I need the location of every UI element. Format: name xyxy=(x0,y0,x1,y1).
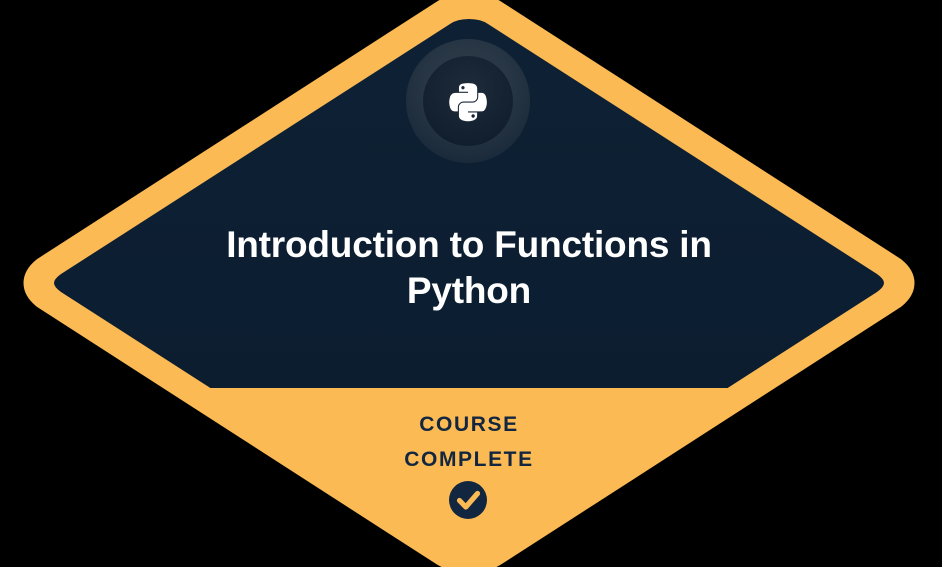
check-circle-icon xyxy=(449,481,487,519)
check-circle-bg xyxy=(449,481,487,519)
badge-graphic xyxy=(0,0,942,567)
course-completion-badge: Introduction to Functions in Python COUR… xyxy=(0,0,942,567)
badge-accent-panel xyxy=(0,388,942,567)
